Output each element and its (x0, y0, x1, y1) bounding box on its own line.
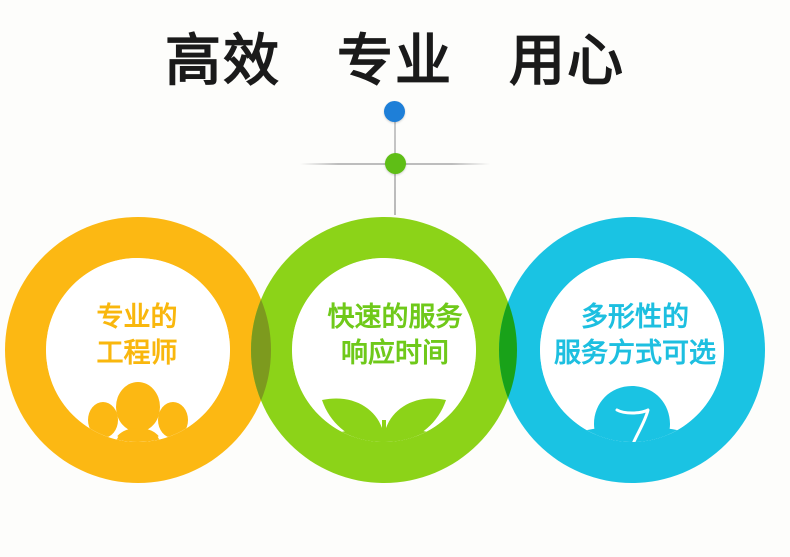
infographic-canvas: 高效专业用心 (0, 0, 790, 557)
inner-disc-green (292, 258, 476, 442)
venn-rings-group (0, 0, 790, 557)
